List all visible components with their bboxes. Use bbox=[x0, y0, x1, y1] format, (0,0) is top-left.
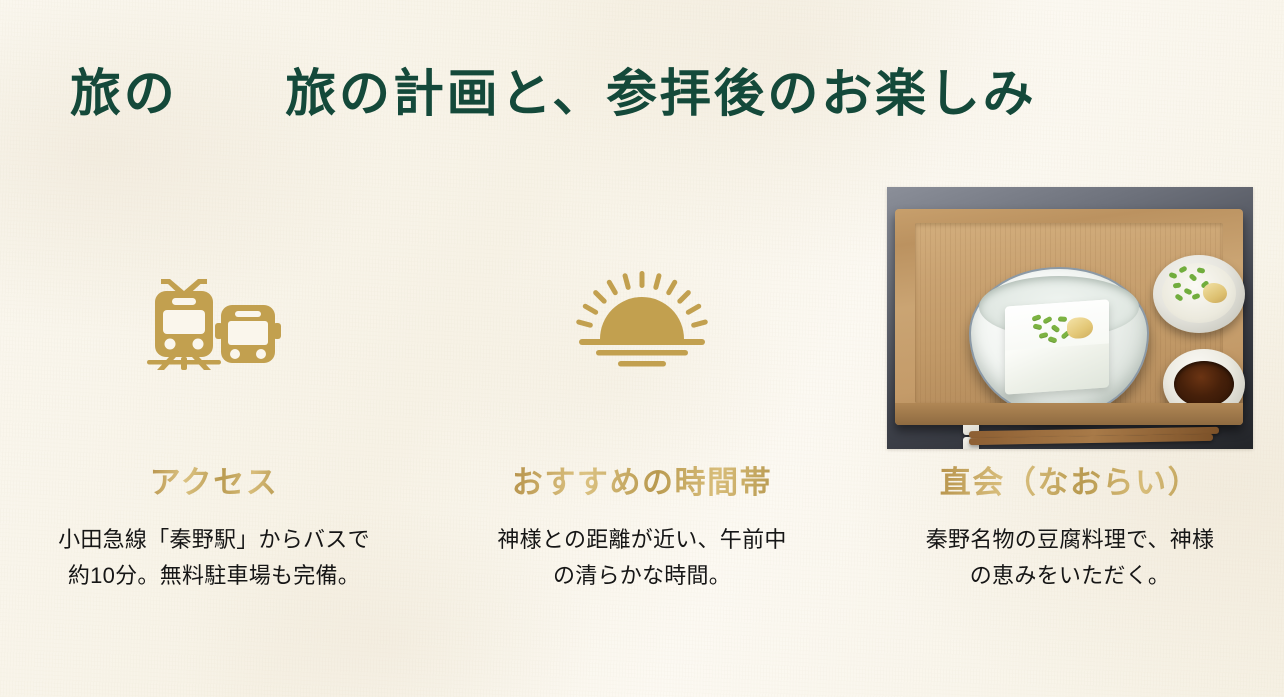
icon-area-best-time bbox=[428, 180, 856, 455]
icon-area-access bbox=[0, 180, 428, 455]
tofu-meal-photo bbox=[887, 187, 1253, 449]
page-title: 旅の 旅の計画と、参拝後のお楽しみ bbox=[70, 64, 1036, 128]
column-access: アクセス 小田急線「秦野駅」からバスで 約10分。無料駐車場も完備。 bbox=[0, 180, 428, 593]
tray-front-edge bbox=[895, 403, 1243, 425]
tofu-block bbox=[1005, 299, 1109, 394]
icon-area-naorai bbox=[856, 180, 1284, 455]
slide-page: 旅の 旅の計画と、参拝後のお楽しみ bbox=[0, 0, 1284, 697]
column-body-access: 小田急線「秦野駅」からバスで 約10分。無料駐車場も完備。 bbox=[58, 522, 370, 593]
train-bus-icon bbox=[139, 265, 289, 370]
ginger-mound bbox=[1203, 283, 1227, 303]
column-body-best-time: 神様との距離が近い、午前中 の清らかな時間。 bbox=[497, 522, 786, 593]
feature-columns: アクセス 小田急線「秦野駅」からバスで 約10分。無料駐車場も完備。 bbox=[0, 180, 1284, 593]
column-heading-best-time: おすすめの時間帯 bbox=[512, 457, 772, 502]
tray-surface bbox=[915, 223, 1223, 403]
soy-sauce bbox=[1174, 361, 1234, 407]
column-naorai: 直会（なおらい） 秦野名物の豆腐料理で、神様 の恵みをいただく。 bbox=[856, 180, 1284, 593]
column-heading-naorai: 直会（なおらい） bbox=[940, 457, 1200, 502]
column-body-naorai: 秦野名物の豆腐料理で、神様 の恵みをいただく。 bbox=[926, 522, 1215, 593]
column-heading-access: アクセス bbox=[150, 457, 279, 502]
column-best-time: おすすめの時間帯 神様との距離が近い、午前中 の清らかな時間。 bbox=[428, 180, 856, 593]
sunrise-icon bbox=[567, 265, 717, 370]
wooden-tray bbox=[895, 209, 1243, 425]
condiment-dish bbox=[1153, 255, 1245, 333]
